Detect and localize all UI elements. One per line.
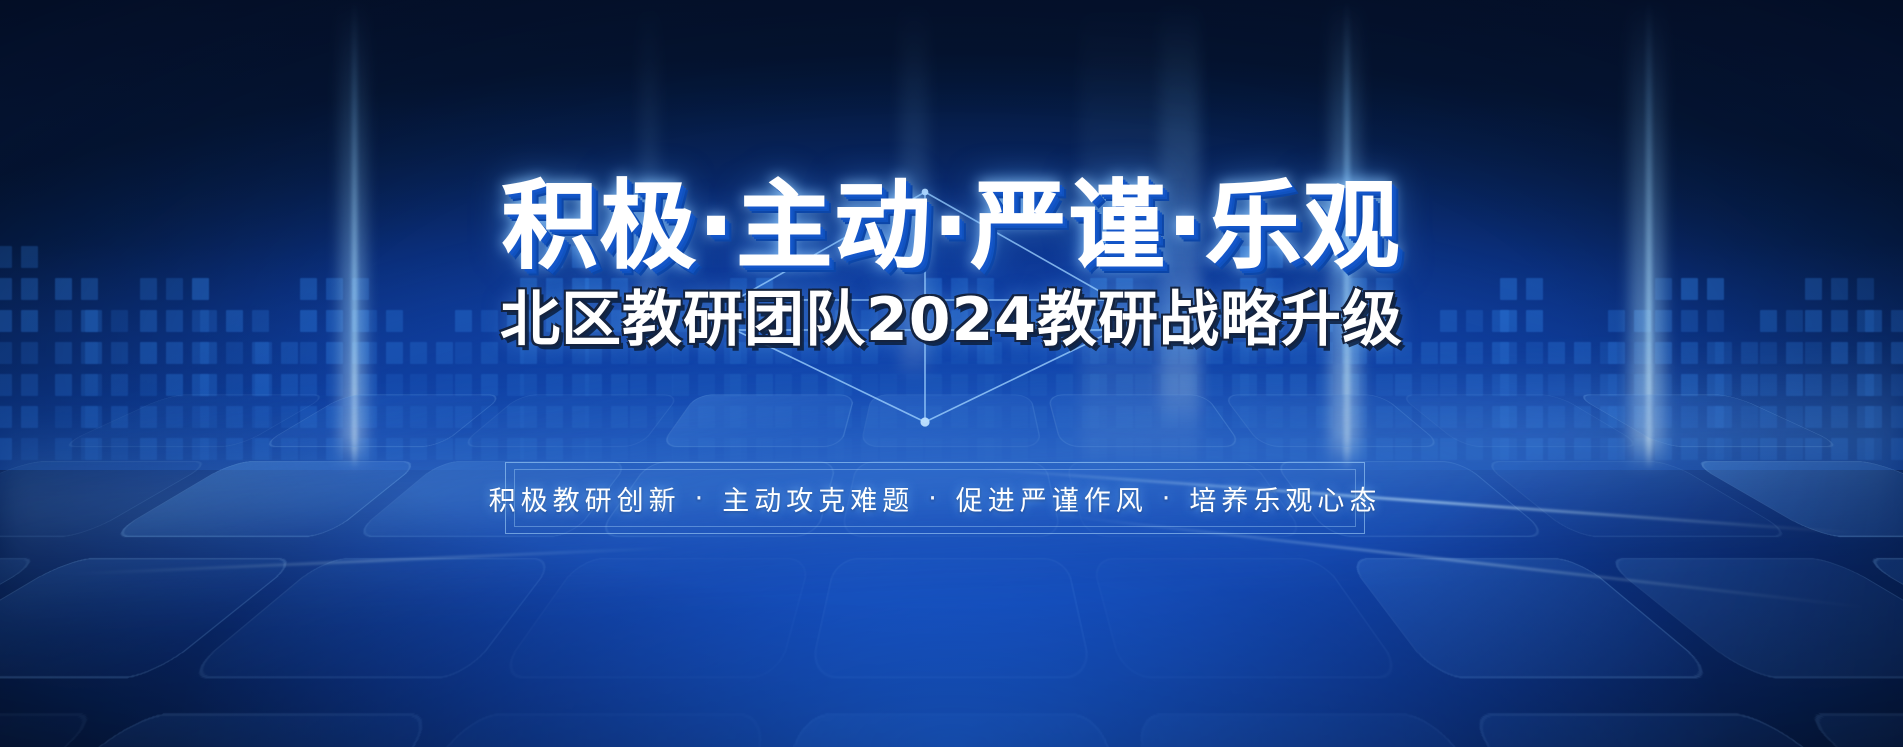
tagline-text: 积极教研创新·主动攻克难题·促进严谨作风·培养乐观心态 [505, 462, 1365, 534]
tagline-separator: · [681, 483, 723, 514]
banner-root: 积极·主动·严谨·乐观 北区教研团队2024教研战略升级 积极教研创新·主动攻克… [0, 0, 1903, 747]
title-block: 积极·主动·严谨·乐观 北区教研团队2024教研战略升级 [0, 178, 1903, 350]
tagline-item: 主动攻克难题 [722, 479, 914, 518]
tagline-frame: 积极教研创新·主动攻克难题·促进严谨作风·培养乐观心态 [505, 462, 1365, 534]
tagline-item: 培养乐观心态 [1189, 479, 1381, 518]
main-title: 积极·主动·严谨·乐观 [0, 178, 1903, 274]
tagline-separator: · [1148, 483, 1190, 514]
tagline-separator: · [914, 483, 956, 514]
tagline-item: 促进严谨作风 [956, 479, 1148, 518]
sub-title: 北区教研团队2024教研战略升级 [0, 290, 1903, 350]
tagline-item: 积极教研创新 [489, 479, 681, 518]
